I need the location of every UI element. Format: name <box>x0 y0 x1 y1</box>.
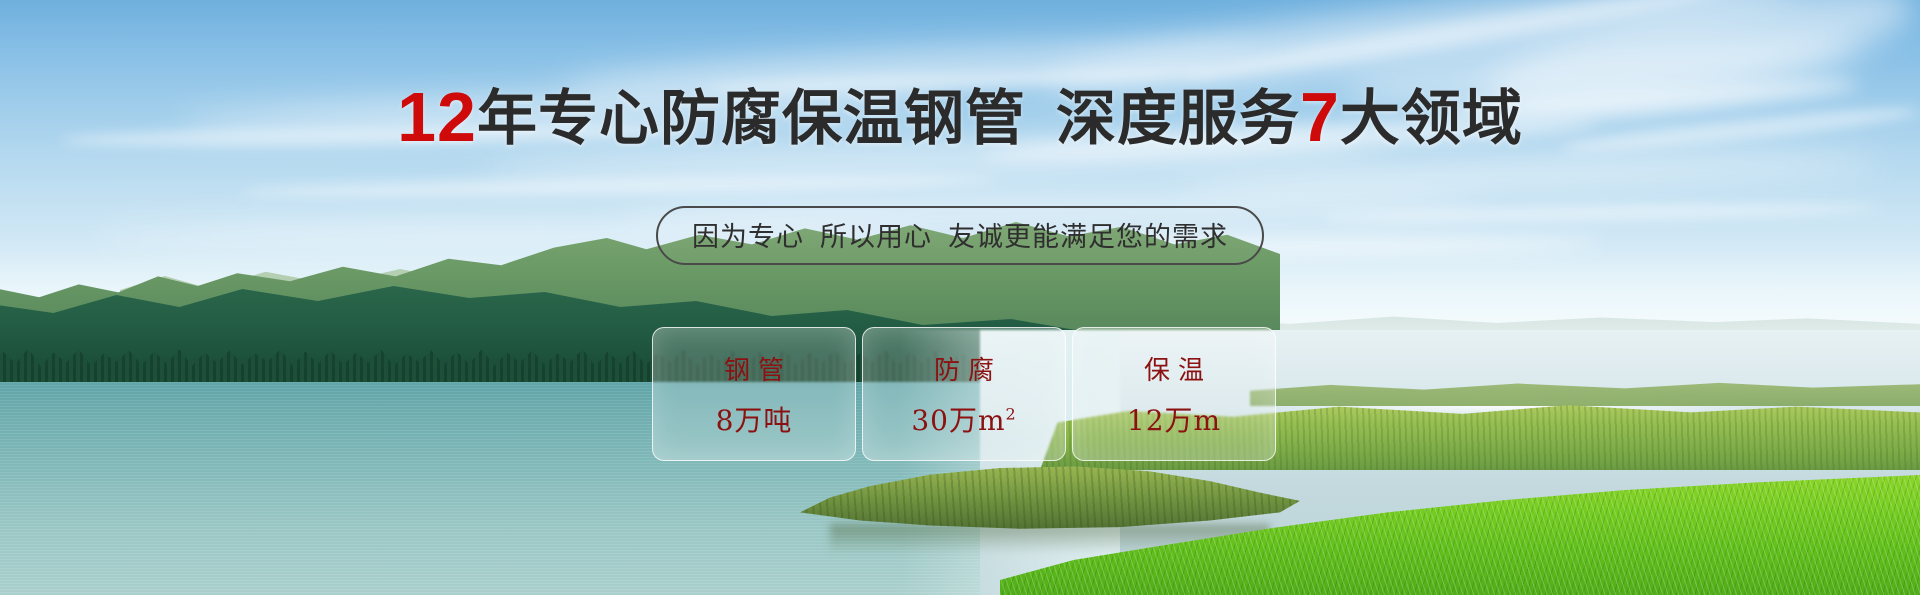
headline-years-number: 12 <box>397 78 477 156</box>
stat-label: 防腐 <box>926 350 1002 387</box>
stat-value: 30万m2 <box>911 399 1016 439</box>
subtitle-segment-2: 所以用心 <box>820 222 932 252</box>
headline-text-part1: 年专心防腐保温钢管 <box>477 85 1026 152</box>
stat-label: 保温 <box>1136 350 1212 387</box>
subtitle-segment-3: 友诚更能满足您的需求 <box>948 222 1228 252</box>
stat-value-text: 30万m <box>911 404 1005 437</box>
stat-card-steel-pipe: 钢管 8万吨 <box>652 327 856 461</box>
stat-value-text: 8万吨 <box>716 404 793 437</box>
stat-value-text: 12万m <box>1127 404 1221 437</box>
stat-value: 8万吨 <box>716 399 793 439</box>
headline-text-part3: 大领域 <box>1340 85 1523 152</box>
headline-text-part2: 深度服务 <box>1056 85 1300 152</box>
stat-card-insulation: 保温 12万m <box>1072 327 1276 461</box>
subtitle-segment-1: 因为专心 <box>692 222 804 252</box>
stat-value: 12万m <box>1127 399 1221 439</box>
stat-label: 钢管 <box>716 350 792 387</box>
headline-fields-number: 7 <box>1300 78 1340 156</box>
banner-headline: 12年专心防腐保温钢管深度服务7大领域 <box>0 82 1920 152</box>
banner-content: 12年专心防腐保温钢管深度服务7大领域 因为专心所以用心友诚更能满足您的需求 钢… <box>0 0 1920 595</box>
stat-card-anticorrosion: 防腐 30万m2 <box>862 327 1066 461</box>
stat-value-exponent: 2 <box>1006 404 1017 423</box>
banner-subtitle-pill: 因为专心所以用心友诚更能满足您的需求 <box>656 206 1264 265</box>
hero-banner: 12年专心防腐保温钢管深度服务7大领域 因为专心所以用心友诚更能满足您的需求 钢… <box>0 0 1920 595</box>
stat-cards: 钢管 8万吨 防腐 30万m2 保温 12万m <box>652 327 1276 461</box>
